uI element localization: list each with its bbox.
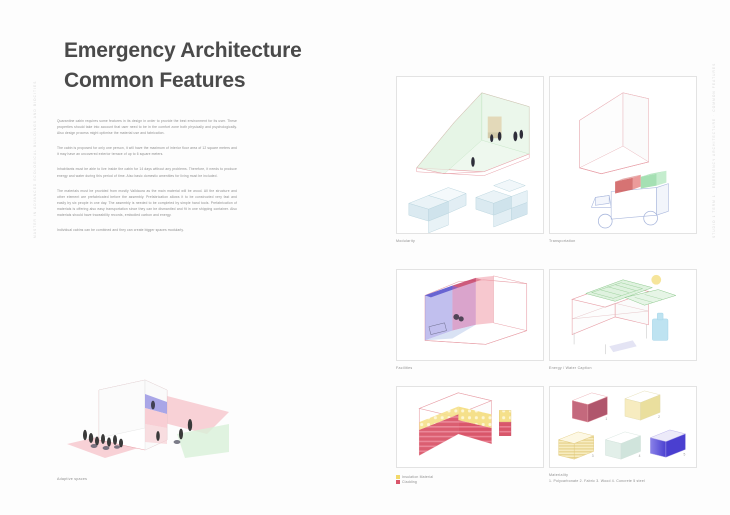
legend-swatch-cladding (396, 480, 400, 484)
adaptive-spaces-illustration (57, 378, 229, 471)
panel-caption-energy-water: Energy / Water Caption (549, 366, 592, 370)
legend-item: Cladding (396, 480, 433, 484)
svg-text:3: 3 (592, 454, 594, 458)
legend-label-insulation: Insulation Material (402, 475, 433, 479)
svg-text:2: 2 (658, 415, 660, 419)
panel-facilities (396, 269, 544, 361)
panel-transportation (549, 76, 697, 234)
legend-label-cladding: Cladding (402, 480, 417, 484)
paragraph: Inhabitants must be able to live inside … (57, 166, 237, 178)
paragraph: The cabin is proposed for only one perso… (57, 145, 237, 157)
presentation-board: Emergency Architecture Common Features Q… (0, 0, 730, 515)
edge-text-right: STUDIO 1 TERM 1 · EMERGENCY ARCHITECTURE… (712, 63, 716, 238)
legend-swatch-insulation (396, 475, 400, 479)
paragraph: Quarantine cabin requires some features … (57, 118, 237, 136)
insulation-legend: Insulation Material Cladding (396, 475, 433, 485)
legend-item: Insulation Material (396, 475, 433, 479)
panel-modularity (396, 76, 544, 234)
svg-text:4: 4 (639, 454, 641, 458)
panel-caption-modularity: Modularity (396, 239, 415, 243)
panel-energy-water (549, 269, 697, 361)
materiality-legend: Materiality 1. Polycarbonate 2. Fabric 3… (549, 473, 645, 483)
panel-insulation (396, 386, 544, 468)
panel-caption-facilities: Facilities (396, 366, 412, 370)
paragraph: The materials must be provided from most… (57, 188, 237, 218)
title-line-2: Common Features (64, 66, 364, 96)
panel-caption-transportation: Transportation (549, 239, 576, 243)
body-text: Quarantine cabin requires some features … (57, 118, 237, 242)
title-line-1: Emergency Architecture (64, 36, 364, 66)
edge-text-left: MASTER IN ADVANCED ECOLOGICAL BUILDINGS … (33, 81, 37, 238)
svg-text:1: 1 (605, 417, 607, 421)
page-title: Emergency Architecture Common Features (64, 36, 364, 97)
panel-materiality: 1 2 3 4 5 (549, 386, 697, 468)
paragraph: Individual cabins can be combined and th… (57, 227, 237, 233)
materiality-title: Materiality (549, 473, 645, 477)
materiality-list: 1. Polycarbonate 2. Fabric 3. Wood 4. Co… (549, 479, 645, 483)
svg-text:5: 5 (683, 452, 685, 456)
adaptive-spaces-caption: Adaptive spaces (57, 477, 87, 481)
